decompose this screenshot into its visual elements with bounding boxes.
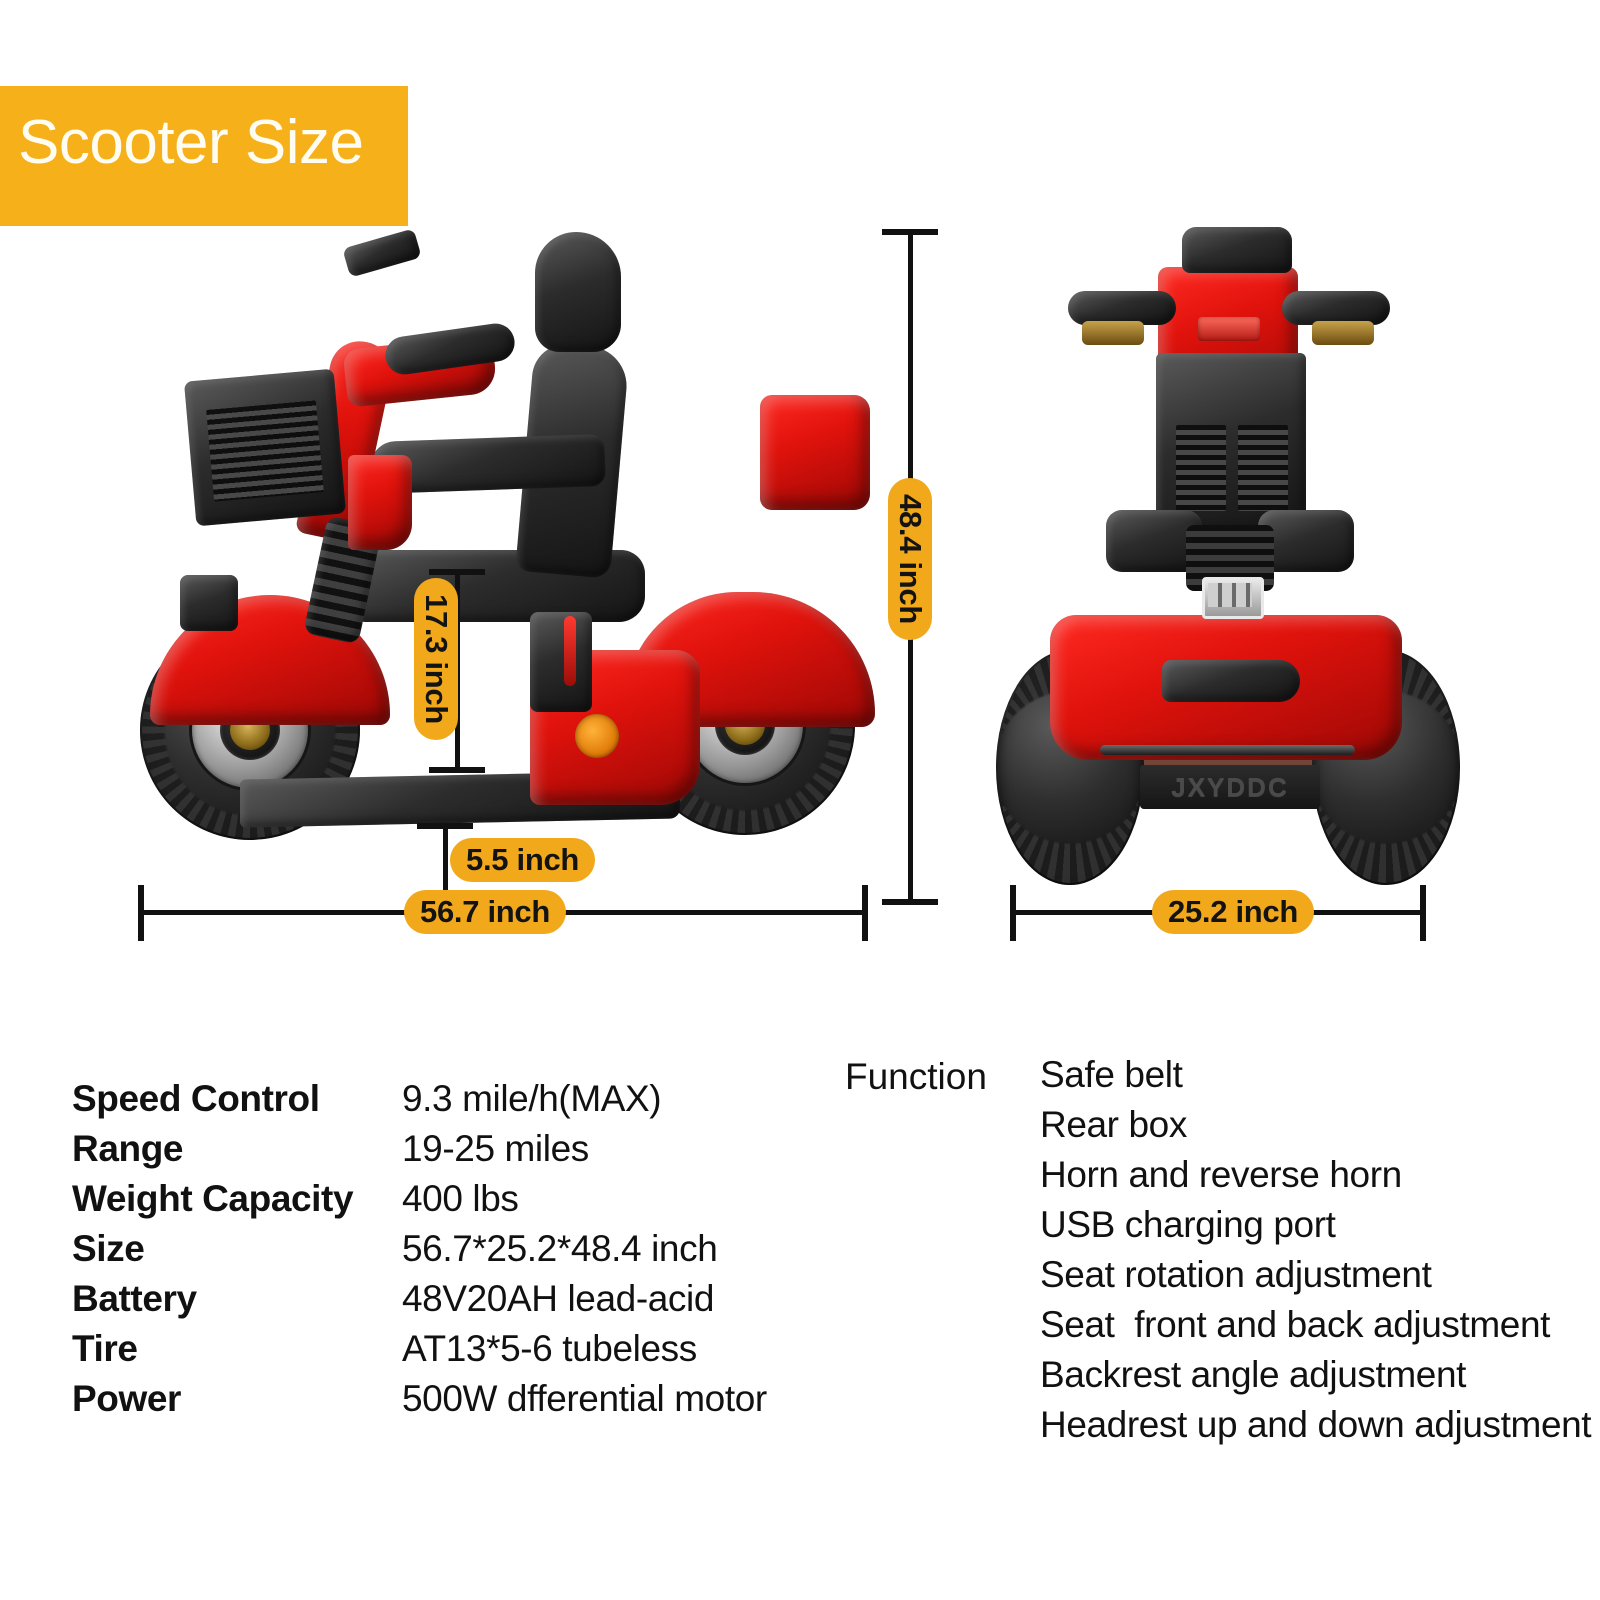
list-item: Rear box — [1040, 1100, 1591, 1150]
rear-taillight-bulbs — [1208, 583, 1252, 607]
spec-value-battery: 48V20AH lead-acid — [402, 1278, 714, 1320]
spec-value-size: 56.7*25.2*48.4 inch — [402, 1228, 717, 1270]
clearance-label: 5.5 inch — [450, 838, 595, 882]
page-title: Scooter Size — [18, 112, 364, 174]
height-dimension-cap-bottom — [882, 899, 938, 905]
side-seat-post — [530, 612, 592, 712]
rear-license-plate: JXYDDC — [1140, 765, 1320, 809]
rear-axle-bar — [1100, 745, 1355, 755]
rear-body-pad — [1162, 660, 1300, 702]
side-headlight — [180, 575, 238, 631]
spec-label-battery: Battery — [72, 1278, 402, 1320]
side-mirror — [342, 228, 421, 277]
spec-label-power: Power — [72, 1378, 402, 1420]
list-item: Safe belt — [1040, 1050, 1591, 1100]
width-label: 25.2 inch — [1152, 890, 1314, 934]
scooter-rear-view: JXYDDC — [990, 225, 1460, 905]
spec-label-range: Range — [72, 1128, 402, 1170]
side-seat-lever — [564, 616, 576, 686]
length-cap-left — [138, 885, 144, 941]
rear-plate-text: JXYDDC — [1171, 772, 1288, 803]
side-reflector — [575, 714, 619, 758]
rear-right-armrest — [1282, 291, 1390, 325]
seat-height-label: 17.3 inch — [414, 578, 458, 740]
length-cap-right — [862, 885, 868, 941]
specification-table: Speed Control 9.3 mile/h(MAX) Range 19-2… — [72, 1078, 772, 1428]
side-headrest — [535, 232, 621, 352]
side-front-cowl — [348, 455, 412, 550]
list-item: USB charging port — [1040, 1200, 1591, 1250]
side-rear-box — [760, 395, 870, 510]
spec-label-speed-control: Speed Control — [72, 1078, 402, 1120]
spec-row: Size 56.7*25.2*48.4 inch — [72, 1228, 772, 1278]
clearance-cap-top — [417, 823, 473, 829]
list-item: Horn and reverse horn — [1040, 1150, 1591, 1200]
list-item: Headrest up and down adjustment — [1040, 1400, 1591, 1450]
spec-value-weight-capacity: 400 lbs — [402, 1178, 519, 1220]
height-dimension-label: 48.4 inch — [888, 478, 932, 640]
spec-row: Battery 48V20AH lead-acid — [72, 1278, 772, 1328]
spec-row: Tire AT13*5-6 tubeless — [72, 1328, 772, 1378]
function-list: Safe belt Rear box Horn and reverse horn… — [1040, 1050, 1591, 1450]
list-item: Seat rotation adjustment — [1040, 1250, 1591, 1300]
spec-value-range: 19-25 miles — [402, 1128, 589, 1170]
width-cap-left — [1010, 885, 1016, 941]
rear-right-indicator — [1312, 321, 1374, 345]
side-basket-vents — [206, 400, 324, 501]
length-label: 56.7 inch — [404, 890, 566, 934]
spec-label-tire: Tire — [72, 1328, 402, 1370]
spec-row: Range 19-25 miles — [72, 1128, 772, 1178]
spec-value-tire: AT13*5-6 tubeless — [402, 1328, 697, 1370]
function-block: Function Safe belt Rear box Horn and rev… — [845, 1050, 1591, 1450]
infographic-page: Scooter Size — [0, 0, 1600, 1600]
spec-row: Power 500W dfferential motor — [72, 1378, 772, 1428]
rear-box-vents-right — [1238, 425, 1288, 511]
seat-height-cap-bottom — [429, 767, 485, 773]
spec-row: Speed Control 9.3 mile/h(MAX) — [72, 1078, 772, 1128]
rear-box-vents-left — [1176, 425, 1226, 511]
spec-value-speed-control: 9.3 mile/h(MAX) — [402, 1078, 661, 1120]
rear-headrest — [1182, 227, 1292, 273]
seat-height-cap-top — [429, 569, 485, 575]
rear-left-armrest — [1068, 291, 1176, 325]
list-item: Seat front and back adjustment — [1040, 1300, 1591, 1350]
scooter-side-view — [130, 220, 870, 910]
rear-tiller-reflector — [1198, 317, 1260, 341]
width-cap-right — [1420, 885, 1426, 941]
list-item: Backrest angle adjustment — [1040, 1350, 1591, 1400]
height-dimension-cap-top — [882, 229, 938, 235]
function-heading: Function — [845, 1050, 1040, 1450]
spec-label-weight-capacity: Weight Capacity — [72, 1178, 402, 1220]
rear-left-indicator — [1082, 321, 1144, 345]
spec-value-power: 500W dfferential motor — [402, 1378, 767, 1420]
spec-row: Weight Capacity 400 lbs — [72, 1178, 772, 1228]
spec-label-size: Size — [72, 1228, 402, 1270]
